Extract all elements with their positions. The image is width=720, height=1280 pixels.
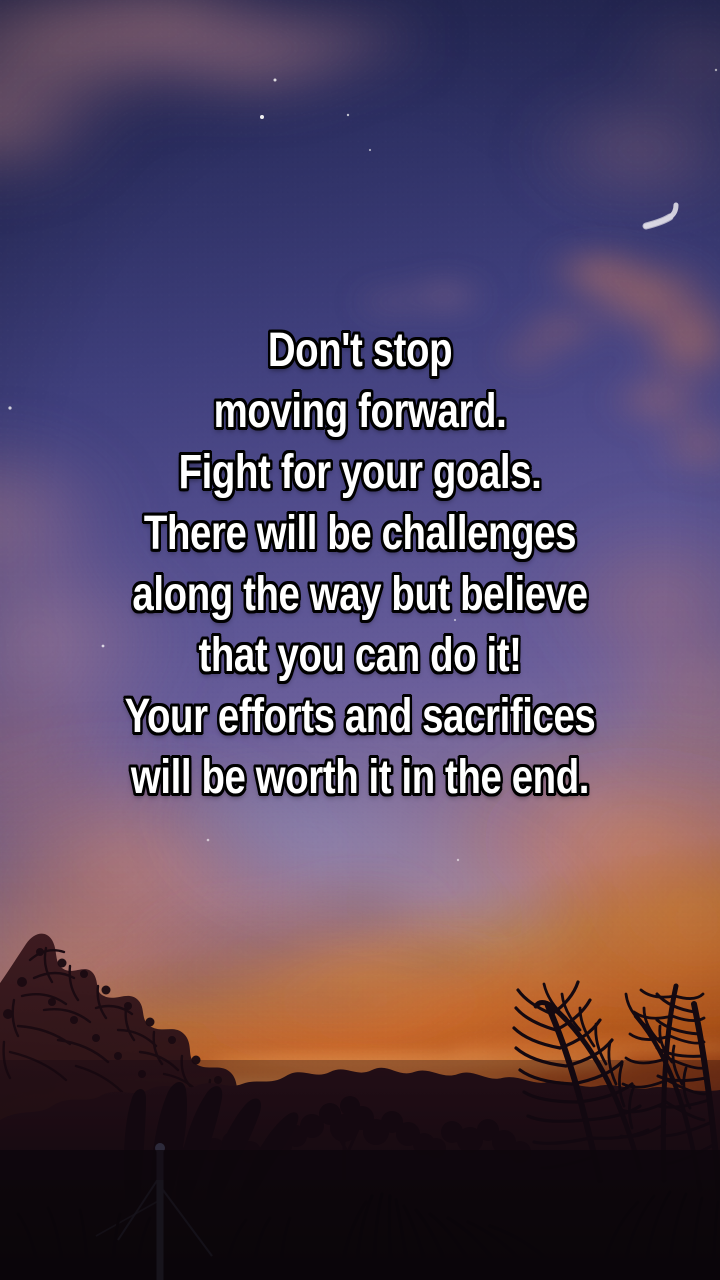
quote-line-2: moving forward. xyxy=(83,381,637,442)
quote-line-5: along the way but believe xyxy=(83,564,637,625)
quote-line-3: Fight for your goals. xyxy=(83,442,637,503)
quote-line-1: Don't stop xyxy=(83,320,637,381)
quote-line-7: Your efforts and sacrifices xyxy=(83,686,637,747)
quote-line-8: will be worth it in the end. xyxy=(83,747,637,808)
quote-line-6: that you can do it! xyxy=(83,625,637,686)
quote-line-4: There will be challenges xyxy=(83,503,637,564)
quote-text-block: Don't stop moving forward. Fight for you… xyxy=(0,320,720,808)
quote-wallpaper: Don't stop moving forward. Fight for you… xyxy=(0,0,720,1280)
